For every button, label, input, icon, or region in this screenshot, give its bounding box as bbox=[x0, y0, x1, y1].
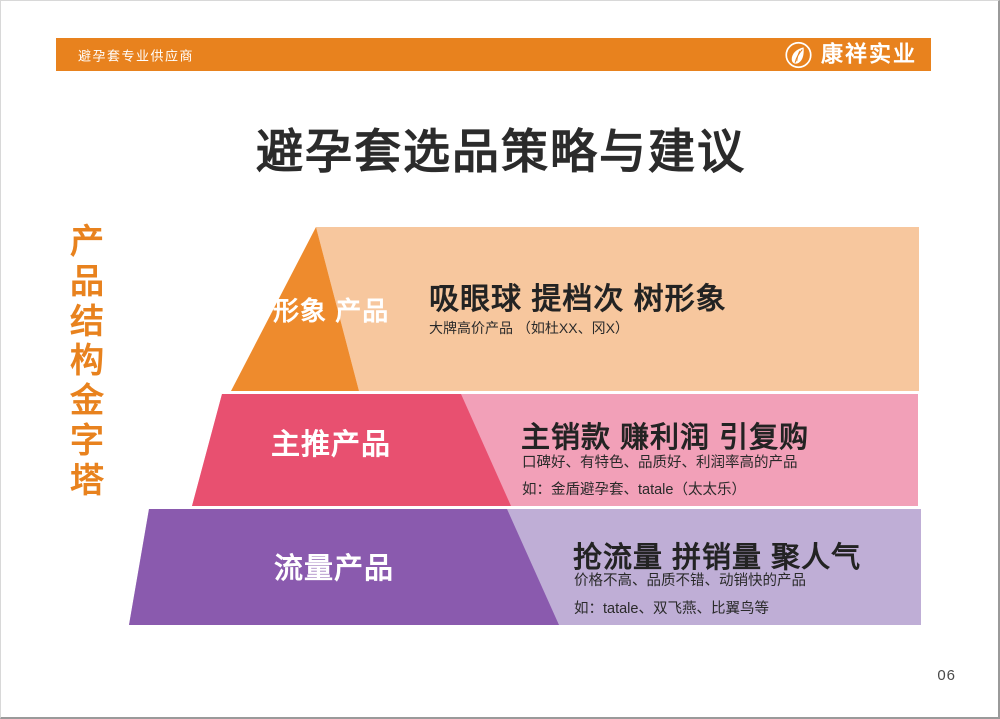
leaf-circle-logo-icon bbox=[785, 41, 812, 68]
tier-name-main-push-products: 主推产品 bbox=[241, 429, 421, 461]
side-label-char: 塔 bbox=[63, 462, 111, 502]
tier-name-line: 产品 bbox=[335, 296, 389, 326]
tier-name-image-products: 形象 产品 bbox=[273, 297, 363, 326]
vertical-side-label: 产 品 结 构 金 字 塔 bbox=[63, 223, 111, 501]
tier-example-main-push-products: 如：金盾避孕套、tatale（太太乐） bbox=[522, 478, 746, 499]
tier-subtext-main-push-products: 口碑好、有特色、品质好、利润率高的产品 bbox=[522, 451, 798, 472]
brand-block: 康祥实业 bbox=[785, 41, 917, 68]
slide-canvas: 避孕套专业供应商 康祥实业 避孕套选品策略与建议 产 品 结 构 金 字 塔 bbox=[0, 0, 1000, 719]
side-label-char: 构 bbox=[63, 342, 111, 382]
page-title: 避孕套选品策略与建议 bbox=[1, 113, 1000, 182]
tier-name-traffic-products: 流量产品 bbox=[244, 553, 424, 585]
tier-subtext-image-products: 大牌高价产品 （如杜XX、冈X） bbox=[429, 318, 629, 338]
tier-subtext-traffic-products: 价格不高、品质不错、动销快的产品 bbox=[574, 569, 806, 590]
tier-headline-image-products: 吸眼球 提档次 树形象 bbox=[429, 274, 727, 318]
tier-name-line: 主推产品 bbox=[271, 429, 391, 461]
tier-example-traffic-products: 如：tatale、双飞燕、比翼鸟等 bbox=[574, 597, 769, 618]
side-label-char: 字 bbox=[63, 422, 111, 462]
tier-headline-main-push-products: 主销款 赚利润 引复购 bbox=[521, 414, 809, 456]
side-label-char: 结 bbox=[63, 303, 111, 343]
page-number: 06 bbox=[937, 667, 956, 684]
tier-name-line: 形象 bbox=[273, 296, 327, 326]
header-tagline: 避孕套专业供应商 bbox=[78, 45, 194, 64]
tier-name-line: 流量产品 bbox=[274, 553, 394, 585]
header-bar: 避孕套专业供应商 康祥实业 bbox=[56, 38, 931, 71]
side-label-char: 品 bbox=[63, 263, 111, 303]
side-label-char: 产 bbox=[63, 223, 111, 263]
pyramid-diagram bbox=[1, 1, 1000, 719]
brand-name: 康祥实业 bbox=[821, 44, 917, 66]
side-label-char: 金 bbox=[63, 382, 111, 422]
